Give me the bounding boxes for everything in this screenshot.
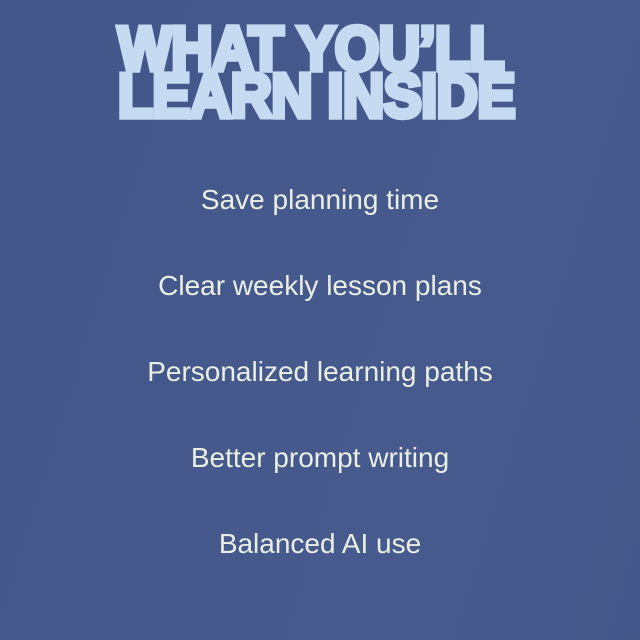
headline-line-2: LEARN INSIDE: [118, 73, 598, 120]
list-item: Personalized learning paths: [0, 355, 640, 389]
list-item: Better prompt writing: [0, 441, 640, 475]
list-item: Save planning time: [0, 183, 640, 217]
page-title: WHAT YOU’LL LEARN INSIDE: [0, 26, 640, 120]
promo-poster: WHAT YOU’LL LEARN INSIDE Save planning t…: [0, 0, 640, 640]
list-item: Clear weekly lesson plans: [0, 269, 640, 303]
benefits-list: Save planning time Clear weekly lesson p…: [0, 183, 640, 561]
list-item: Balanced AI use: [0, 527, 640, 561]
